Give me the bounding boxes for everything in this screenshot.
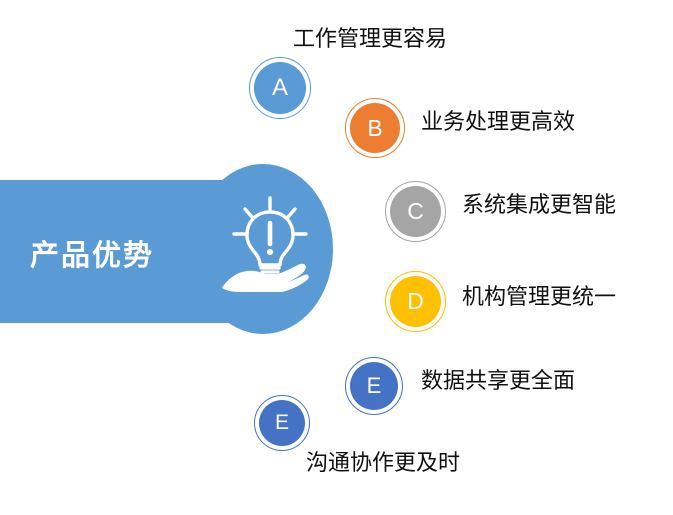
- node-label-2: 系统集成更智能: [462, 194, 616, 216]
- node-label-4: 数据共享更全面: [421, 370, 575, 392]
- node-letter-3: D: [407, 288, 424, 315]
- node-letter-1: B: [367, 115, 382, 142]
- node-letter-0: A: [272, 74, 288, 102]
- node-circle-0[interactable]: A: [254, 62, 306, 114]
- node-circle-2[interactable]: C: [390, 186, 441, 237]
- node-letter-5: E: [275, 411, 289, 435]
- lightbulb-in-hand-icon: [218, 192, 322, 296]
- node-letter-4: E: [367, 373, 382, 399]
- node-circle-5[interactable]: E: [259, 400, 305, 446]
- node-circle-4[interactable]: E: [350, 362, 398, 410]
- node-letter-2: C: [407, 198, 424, 225]
- node-label-5: 沟通协作更及时: [306, 452, 460, 474]
- node-circle-1[interactable]: B: [350, 103, 400, 153]
- node-label-0: 工作管理更容易: [293, 28, 447, 50]
- node-label-3: 机构管理更统一: [462, 286, 616, 308]
- node-circle-3[interactable]: D: [390, 276, 441, 327]
- node-label-1: 业务处理更高效: [421, 111, 575, 133]
- page-title: 产品优势: [30, 232, 154, 274]
- slide-canvas: 产品优势 A工作管理更容: [0, 0, 673, 515]
